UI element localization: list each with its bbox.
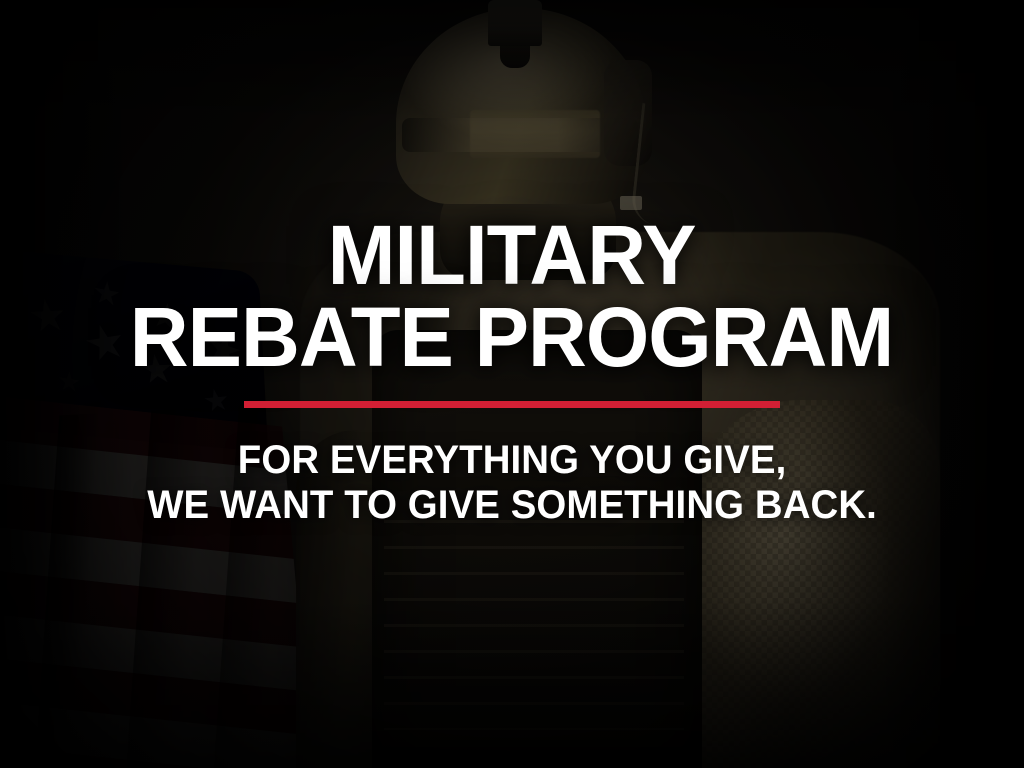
subtitle-line-1: FOR EVERYTHING YOU GIVE,	[147, 438, 877, 484]
text-overlay: MILITARY REBATE PROGRAM FOR EVERYTHING Y…	[0, 0, 1024, 768]
military-rebate-poster: MILITARY REBATE PROGRAM FOR EVERYTHING Y…	[0, 0, 1024, 768]
headline-line-1: MILITARY	[130, 214, 894, 296]
poster-headline: MILITARY REBATE PROGRAM	[118, 214, 905, 379]
red-divider-rule	[244, 401, 780, 408]
subtitle-line-2: WE WANT TO GIVE SOMETHING BACK.	[147, 483, 877, 529]
headline-line-2: REBATE PROGRAM	[130, 296, 894, 378]
poster-subtitle: FOR EVERYTHING YOU GIVE, WE WANT TO GIVE…	[132, 438, 892, 529]
